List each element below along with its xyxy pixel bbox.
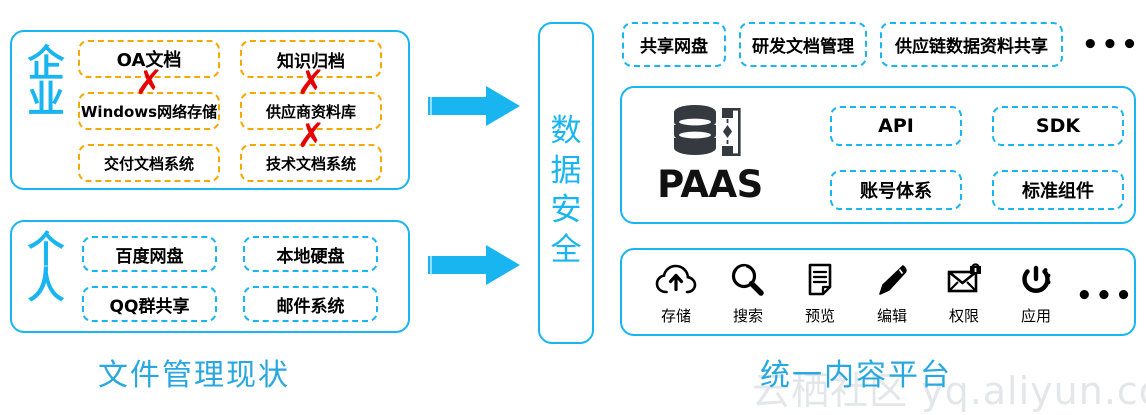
cloud-upload-icon xyxy=(655,262,697,302)
personal-item-qq-group[interactable]: QQ群共享 xyxy=(82,286,217,322)
paas-chip-sdk[interactable]: SDK xyxy=(992,106,1124,146)
data-security-char-1: 数 xyxy=(540,112,592,152)
paas-chip-standard-components[interactable]: 标准组件 xyxy=(992,170,1124,210)
capability-label: 权限 xyxy=(949,305,979,326)
capability-label: 搜索 xyxy=(733,305,763,326)
document-icon xyxy=(799,262,841,302)
enterprise-item-label: 交付文档系统 xyxy=(104,153,194,174)
data-security-char-3: 安 xyxy=(540,191,592,231)
paas-chip-label: SDK xyxy=(1036,115,1080,137)
arrow-enterprise-to-security xyxy=(428,86,520,126)
paas-title: PAAS xyxy=(650,163,770,206)
cross-mark-knowledge-supplier: ✗ xyxy=(291,66,331,100)
mail-lock-icon xyxy=(943,262,985,302)
scenario-chip-label: 供应链数据资料共享 xyxy=(895,32,1048,57)
capability-label: 预览 xyxy=(805,305,835,326)
paas-chip-label: 标准组件 xyxy=(1022,177,1094,203)
scenario-chip-rd-doc-mgmt[interactable]: 研发文档管理 xyxy=(739,22,867,67)
scenario-ellipsis: ••• xyxy=(1082,32,1141,58)
capability-application[interactable]: 应用 xyxy=(1000,262,1072,326)
enterprise-item-label: Windows网络存储 xyxy=(81,101,217,122)
arrow-personal-to-security xyxy=(428,245,520,285)
scenario-chip-label: 共享网盘 xyxy=(640,32,708,57)
capability-permission[interactable]: 权限 xyxy=(928,262,1000,326)
paas-chip-api[interactable]: API xyxy=(830,106,962,146)
enterprise-label-char-2: 业 xyxy=(20,82,72,118)
capability-edit[interactable]: 编辑 xyxy=(856,262,928,326)
data-security-char-2: 据 xyxy=(540,152,592,192)
data-security-char-4: 全 xyxy=(540,231,592,271)
enterprise-item-delivery-doc[interactable]: 交付文档系统 xyxy=(78,144,220,182)
personal-label-char-1: 个 xyxy=(20,232,72,268)
capability-search[interactable]: 搜索 xyxy=(712,262,784,326)
cross-mark-oa-windows: ✗ xyxy=(129,66,169,100)
capability-label: 存储 xyxy=(661,305,691,326)
power-icon xyxy=(1015,262,1057,302)
cross-mark-supplier-tech: ✗ xyxy=(291,119,331,153)
personal-item-label: QQ群共享 xyxy=(110,292,190,317)
capability-preview[interactable]: 预览 xyxy=(784,262,856,326)
personal-item-label: 邮件系统 xyxy=(277,292,345,317)
personal-item-local-disk[interactable]: 本地硬盘 xyxy=(243,236,378,272)
personal-item-label: 百度网盘 xyxy=(116,242,184,267)
capability-label: 应用 xyxy=(1021,305,1051,326)
pen-icon xyxy=(871,262,913,302)
capabilities-ellipsis: ••• xyxy=(1076,283,1135,309)
personal-item-label: 本地硬盘 xyxy=(277,242,345,267)
scenario-chip-shared-disk[interactable]: 共享网盘 xyxy=(622,22,726,67)
database-icon xyxy=(670,103,750,161)
data-security-label: 数 据 安 全 xyxy=(540,112,592,271)
scenario-chip-supply-chain[interactable]: 供应链数据资料共享 xyxy=(880,22,1063,67)
data-security-bar: 数 据 安 全 xyxy=(538,22,594,344)
capability-label: 编辑 xyxy=(877,305,907,326)
search-icon xyxy=(727,262,769,302)
paas-chip-label: API xyxy=(878,115,914,137)
left-caption: 文件管理现状 xyxy=(98,350,290,394)
enterprise-label: 企 业 xyxy=(20,46,72,119)
paas-chip-label: 账号体系 xyxy=(860,177,932,203)
personal-item-mail[interactable]: 邮件系统 xyxy=(243,286,378,322)
personal-item-baidu-pan[interactable]: 百度网盘 xyxy=(82,236,217,272)
scenario-chip-label: 研发文档管理 xyxy=(752,32,854,57)
enterprise-label-char-1: 企 xyxy=(20,46,72,82)
personal-label-char-2: 人 xyxy=(20,268,72,304)
personal-label: 个 人 xyxy=(20,232,72,305)
paas-chip-account-system[interactable]: 账号体系 xyxy=(830,170,962,210)
right-caption: 统一内容平台 xyxy=(760,350,952,394)
capability-storage[interactable]: 存储 xyxy=(640,262,712,326)
